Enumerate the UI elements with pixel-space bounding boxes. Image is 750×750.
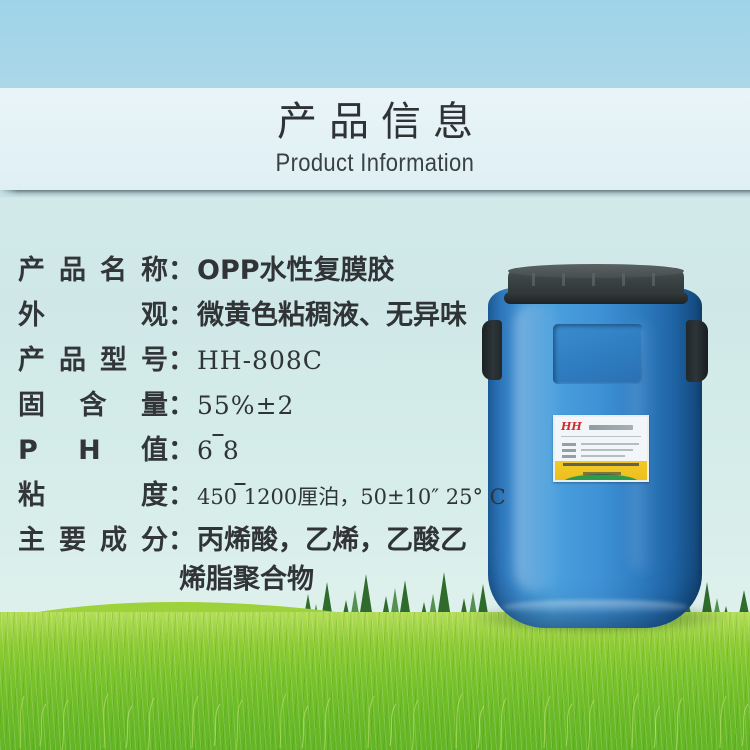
barrel-lid-notch — [652, 273, 655, 286]
sky-background — [0, 0, 750, 88]
range-dash — [214, 436, 223, 465]
spec-label-viscosity: 粘度 — [18, 477, 168, 515]
spec-value-product-name: OPP水性复膜胶 — [197, 252, 395, 290]
spec-label-model: 产品型号 — [18, 342, 168, 380]
spec-value-solid-content: 55%±2 — [197, 387, 294, 425]
barrel-lid-notch — [592, 273, 595, 286]
barrel-lid-notch — [532, 273, 535, 286]
spec-row-product-name: 产品名称 ： OPP水性复膜胶 — [18, 252, 488, 290]
spec-row-viscosity: 粘度 ： 450 1200厘泊，50±10″ 25° C — [18, 477, 488, 515]
spec-colon: ： — [168, 477, 195, 515]
page-header-banner: 产品信息 Product Information — [0, 88, 750, 190]
product-spec-list: 产品名称 ： OPP水性复膜胶 外观 ： 微黄色粘稠液、无异味 产品型号 ： H… — [18, 252, 488, 607]
spec-row-model: 产品型号 ： HH-808C — [18, 342, 488, 380]
grass-blades — [0, 630, 750, 750]
ph-min: 6 — [197, 436, 214, 465]
spec-label-solid-content: 固含量 — [18, 387, 168, 425]
spec-colon: ： — [168, 432, 195, 470]
barrel-recessed-panel — [553, 324, 643, 384]
banner-drop-shadow — [0, 190, 750, 198]
product-info-page: 产品信息 Product Information — [0, 0, 750, 750]
spec-value-model: HH-808C — [197, 342, 323, 380]
page-subtitle: Product Information — [276, 151, 475, 176]
spec-value-composition-line2: 烯脂聚合物 — [179, 560, 488, 600]
viscosity-rest: 1200厘泊，50±10″ 25° C — [244, 485, 506, 509]
label-title-bar — [589, 425, 633, 430]
spec-value-ph: 6 8 — [197, 432, 240, 470]
banner-shadow-fade — [0, 190, 18, 198]
label-footer-wave — [555, 461, 647, 480]
spec-label-composition: 主要成分 — [18, 522, 168, 560]
label-field-key — [562, 443, 576, 446]
spec-row-appearance: 外观 ： 微黄色粘稠液、无异味 — [18, 297, 488, 335]
page-title: 产品信息 — [265, 102, 485, 142]
label-field-key — [562, 449, 576, 452]
spec-value-viscosity: 450 1200厘泊，50±10″ 25° C — [197, 478, 506, 516]
label-contact-line — [583, 472, 621, 475]
spec-label-appearance: 外观 — [18, 297, 168, 335]
label-field-value — [581, 443, 639, 445]
label-field-value — [581, 455, 625, 457]
barrel-highlight-left — [514, 302, 558, 592]
spec-row-composition: 主要成分 ： 丙烯酸，乙烯，乙酸乙 烯脂聚合物 — [18, 522, 488, 600]
spec-colon: ： — [168, 297, 195, 335]
range-dash — [237, 485, 244, 509]
spec-label-ph: PH值 — [18, 432, 168, 470]
barrel-handle-right — [686, 320, 708, 382]
barrel-product-label: HH — [553, 415, 649, 482]
spec-colon: ： — [168, 387, 195, 425]
label-field-value — [581, 449, 633, 451]
barrel-lid-notch — [622, 273, 625, 286]
spec-colon: ： — [168, 342, 195, 380]
barrel-lid-rim — [504, 292, 688, 304]
brand-logo: HH — [561, 421, 582, 432]
ph-max: 8 — [223, 436, 240, 465]
viscosity-min: 450 — [197, 485, 237, 509]
product-barrel-image: HH — [480, 262, 710, 630]
spec-colon: ： — [168, 252, 195, 290]
barrel-lid-notch — [562, 273, 565, 286]
spec-row-ph: PH值 ： 6 8 — [18, 432, 488, 470]
barrel-bottom-highlight — [502, 600, 688, 614]
spec-value-composition: 丙烯酸，乙烯，乙酸乙 — [197, 522, 467, 560]
label-divider — [561, 436, 641, 437]
label-field-key — [562, 455, 576, 458]
spec-value-appearance: 微黄色粘稠液、无异味 — [197, 297, 467, 335]
label-company-line — [563, 463, 639, 466]
spec-row-solid-content: 固含量 ： 55%±2 — [18, 387, 488, 425]
spec-colon: ： — [168, 522, 195, 560]
spec-label-product-name: 产品名称 — [18, 252, 168, 290]
